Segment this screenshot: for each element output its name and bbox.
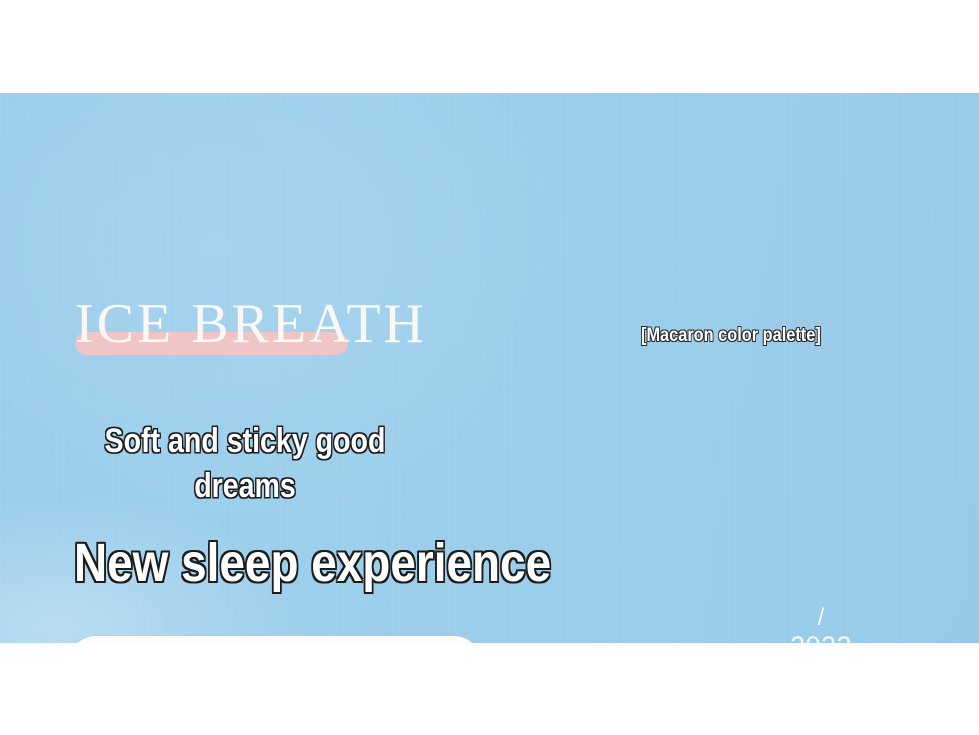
year-mark: / 2023 (781, 605, 861, 643)
cta-pill-button[interactable]: TPE Comfortable Sleep Pillow Series (68, 636, 482, 643)
headline: New sleep experience (74, 530, 551, 596)
subheadline: Soft and sticky good dreams (91, 419, 398, 509)
hero-banner: ICE BREATH [Macaron color palette] Soft … (0, 93, 979, 643)
brand-title: ICE BREATH (75, 291, 427, 357)
macaron-palette-tag: [Macaron color palette] (641, 323, 821, 349)
brand-lockup: ICE BREATH (75, 291, 505, 363)
year-value: 2023 (781, 631, 861, 643)
year-slash: / (781, 605, 861, 631)
banner-page: ICE BREATH [Macaron color palette] Soft … (0, 0, 979, 735)
